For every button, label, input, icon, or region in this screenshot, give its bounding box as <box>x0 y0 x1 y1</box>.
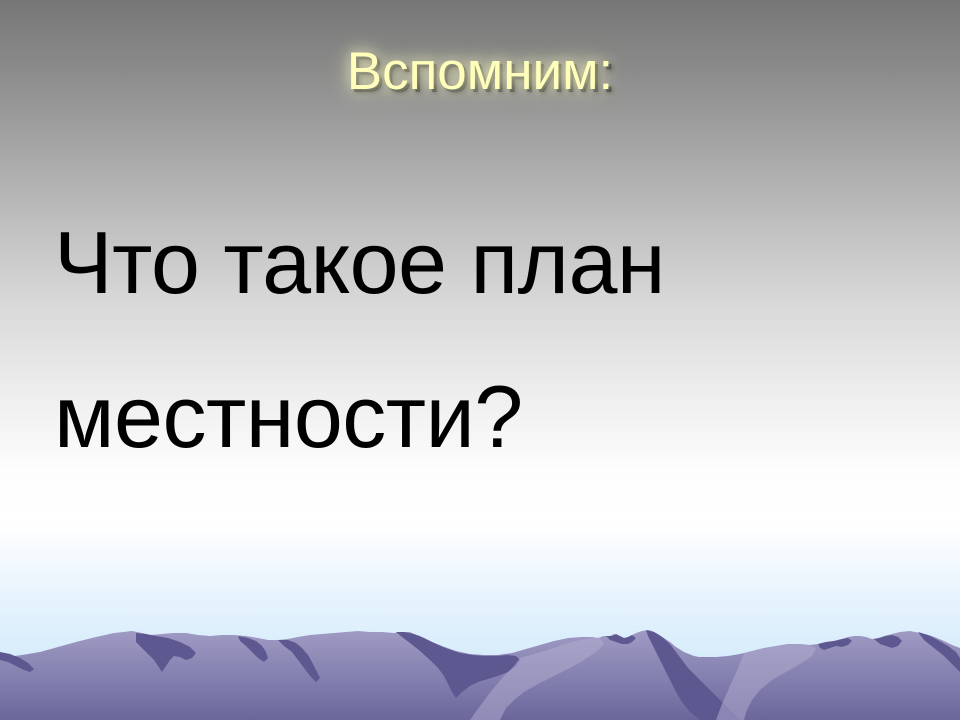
body-text-block: Что такое план местности? <box>54 186 914 494</box>
presentation-slide: Вспомним: Что такое план местности? <box>0 0 960 720</box>
mountain-range-silhouette <box>0 600 960 720</box>
body-line-1: Что такое план <box>54 186 914 340</box>
title-area: Вспомним: <box>0 44 960 100</box>
body-line-2: местности? <box>54 340 914 494</box>
page-title: Вспомним: <box>347 44 614 100</box>
